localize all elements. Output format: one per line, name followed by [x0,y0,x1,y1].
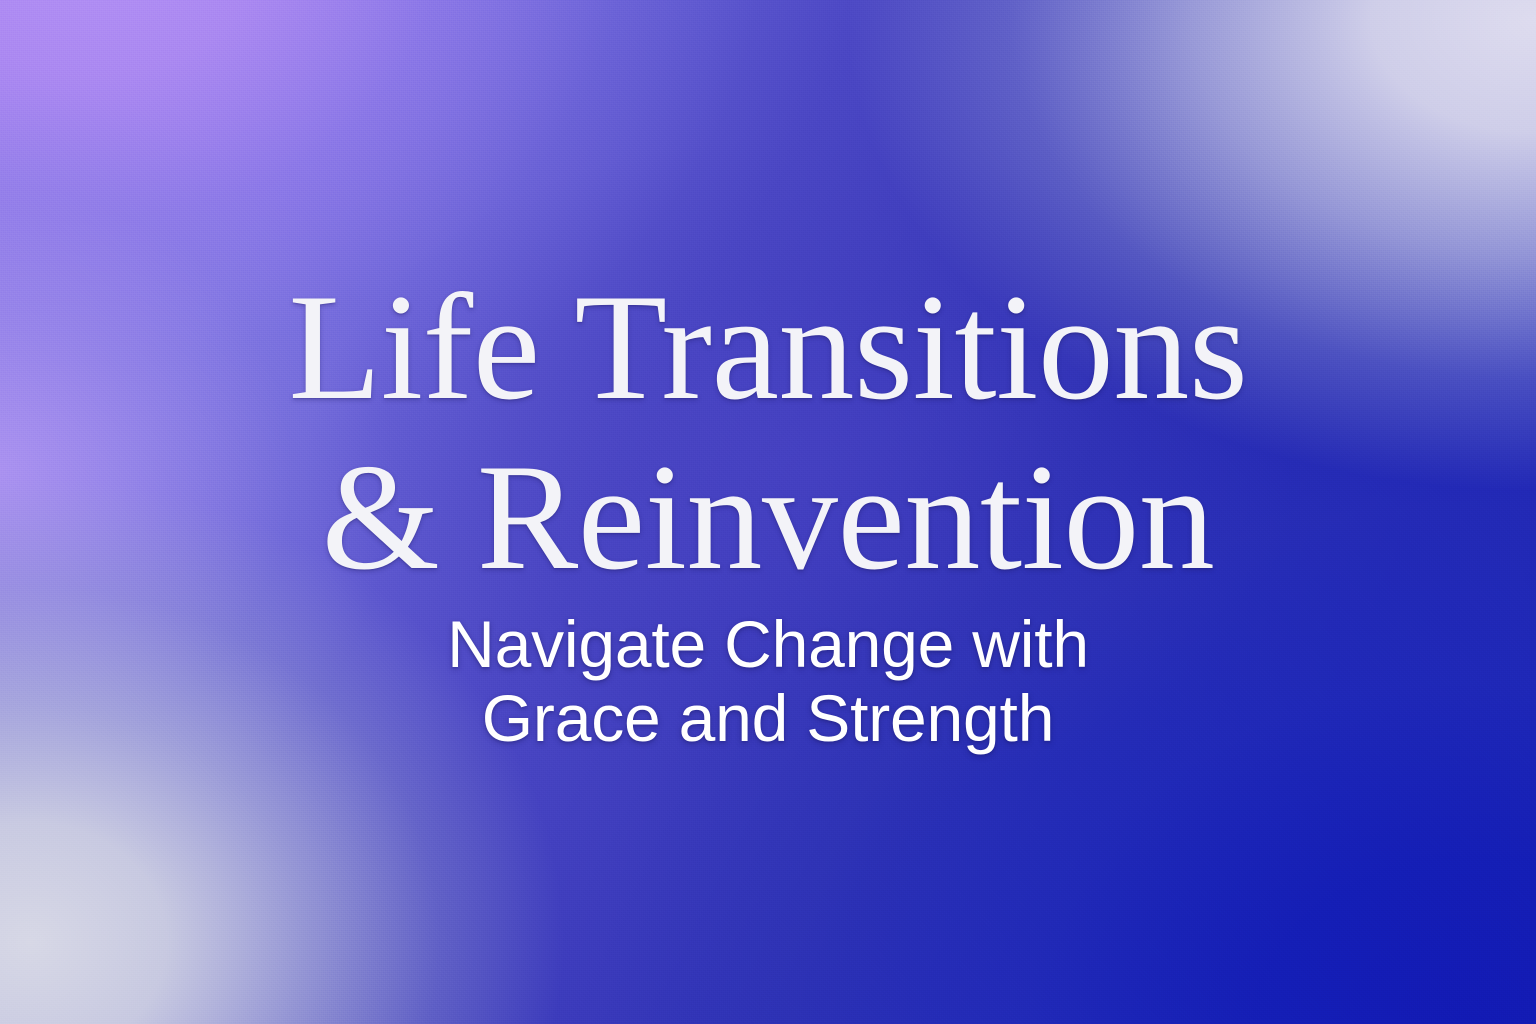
subtitle-line-2: Grace and Strength [0,682,1536,756]
poster-headline: Life Transitions & Reinvention [0,262,1536,602]
subtitle-line-1: Navigate Change with [0,608,1536,682]
poster-content: Life Transitions & Reinvention Navigate … [0,0,1536,1024]
poster-subtitle: Navigate Change with Grace and Strength [0,608,1536,756]
headline-line-1: Life Transitions [0,262,1536,432]
headline-line-2: & Reinvention [0,432,1536,602]
poster-canvas: Life Transitions & Reinvention Navigate … [0,0,1536,1024]
